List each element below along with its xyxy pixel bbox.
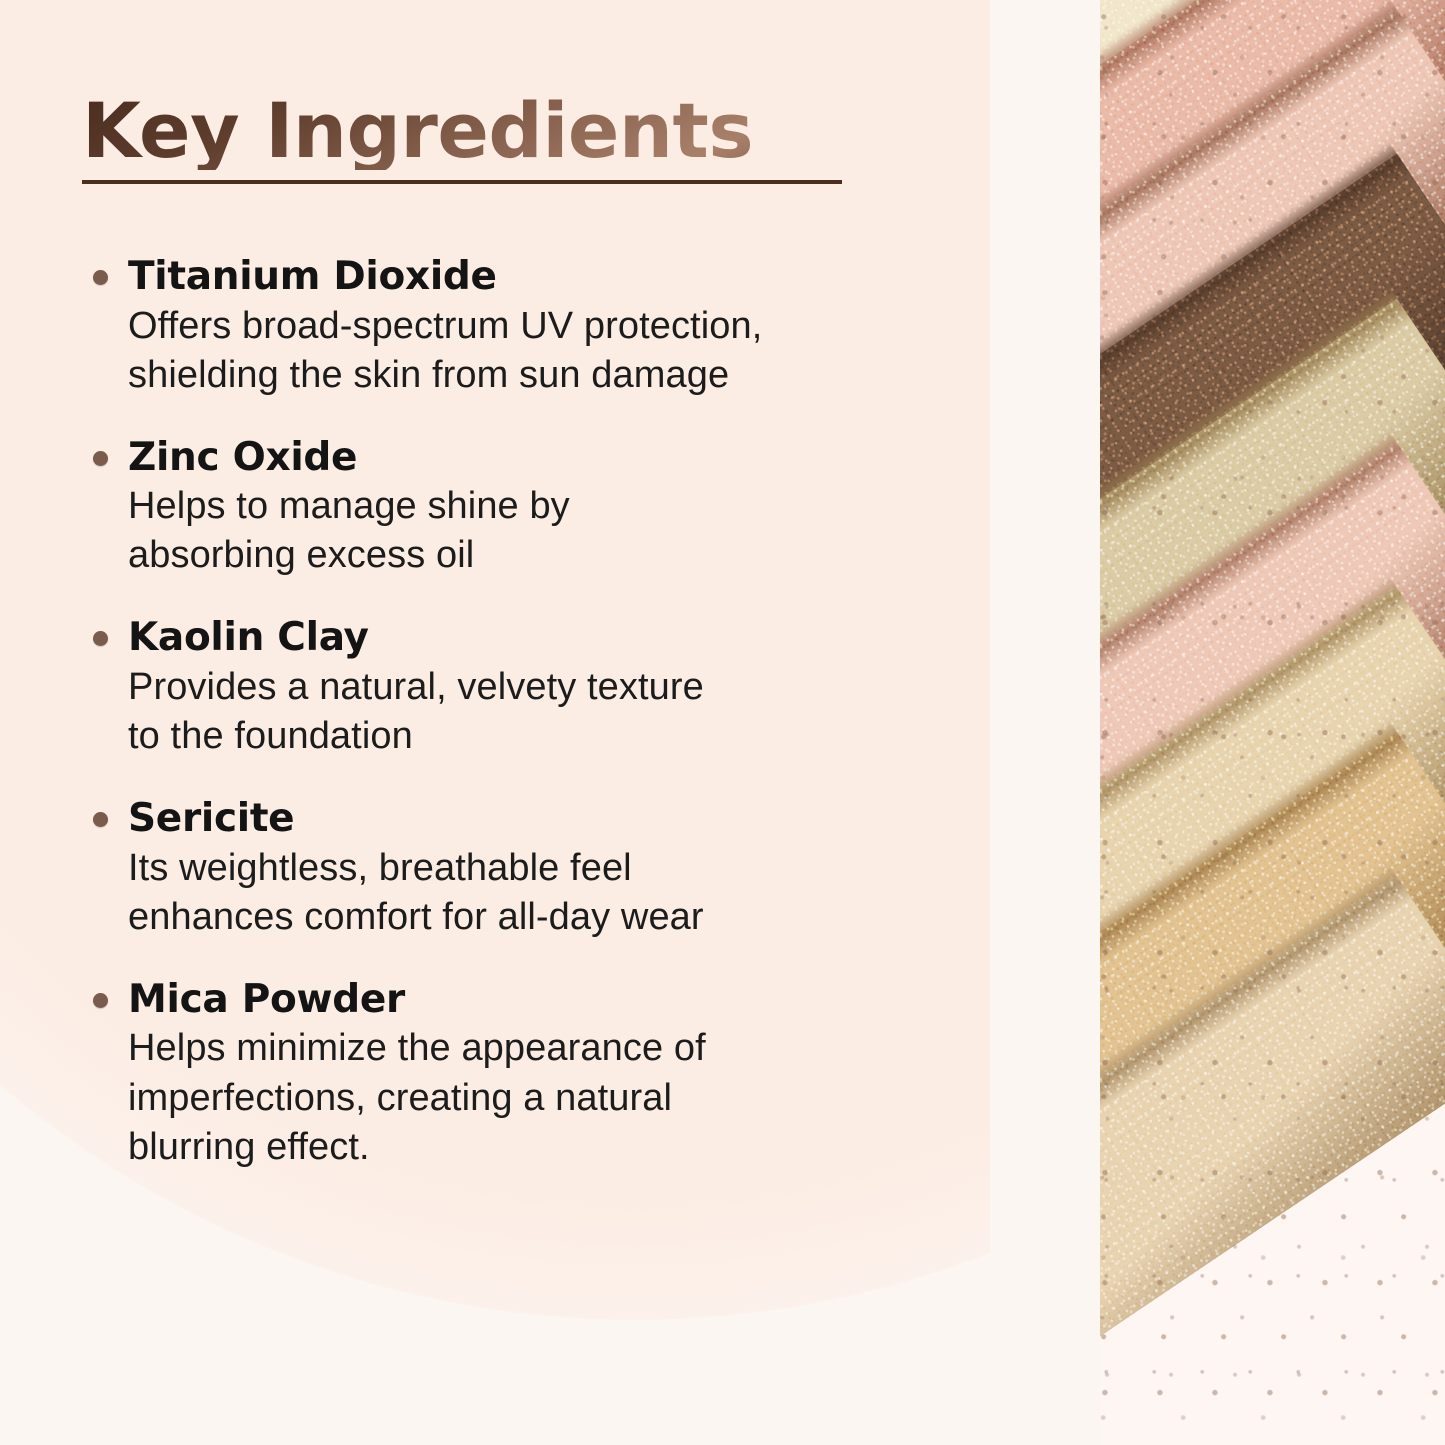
ingredient-name: Kaolin Clay <box>128 616 982 660</box>
list-item: Mica Powder Helps minimize the appearanc… <box>82 978 982 1172</box>
powder-swatch-image <box>1100 0 1445 1445</box>
ingredient-description: Its weightless, breathable feel enhances… <box>128 844 982 942</box>
ingredients-list: Titanium Dioxide Offers broad-spectrum U… <box>82 255 982 1208</box>
bullet-dot-icon <box>93 270 108 285</box>
bullet-dot-icon <box>93 451 108 466</box>
bullet-dot-icon <box>93 812 108 827</box>
text-column: Key Ingredients Titanium Dioxide Offers … <box>0 0 1060 1445</box>
poster-canvas: Key Ingredients Titanium Dioxide Offers … <box>0 0 1445 1445</box>
list-item: Titanium Dioxide Offers broad-spectrum U… <box>82 255 982 400</box>
bullet-dot-icon <box>93 993 108 1008</box>
ingredient-description: Helps minimize the appearance of imperfe… <box>128 1024 982 1171</box>
ingredient-name: Zinc Oxide <box>128 436 982 480</box>
ingredient-name: Titanium Dioxide <box>128 255 982 299</box>
ingredient-description: Offers broad-spectrum UV protection, shi… <box>128 302 982 400</box>
page-title-wrap: Key Ingredients <box>82 92 882 170</box>
bullet-dot-icon <box>93 631 108 646</box>
ingredient-description: Provides a natural, velvety texture to t… <box>128 663 982 761</box>
ingredient-name: Sericite <box>128 797 982 841</box>
list-item: Sericite Its weightless, breathable feel… <box>82 797 982 942</box>
ingredient-description: Helps to manage shine by absorbing exces… <box>128 482 982 580</box>
list-item: Kaolin Clay Provides a natural, velvety … <box>82 616 982 761</box>
page-title-underline <box>82 180 842 184</box>
page-title: Key Ingredients <box>82 92 882 170</box>
list-item: Zinc Oxide Helps to manage shine by abso… <box>82 436 982 581</box>
ingredient-name: Mica Powder <box>128 978 982 1022</box>
